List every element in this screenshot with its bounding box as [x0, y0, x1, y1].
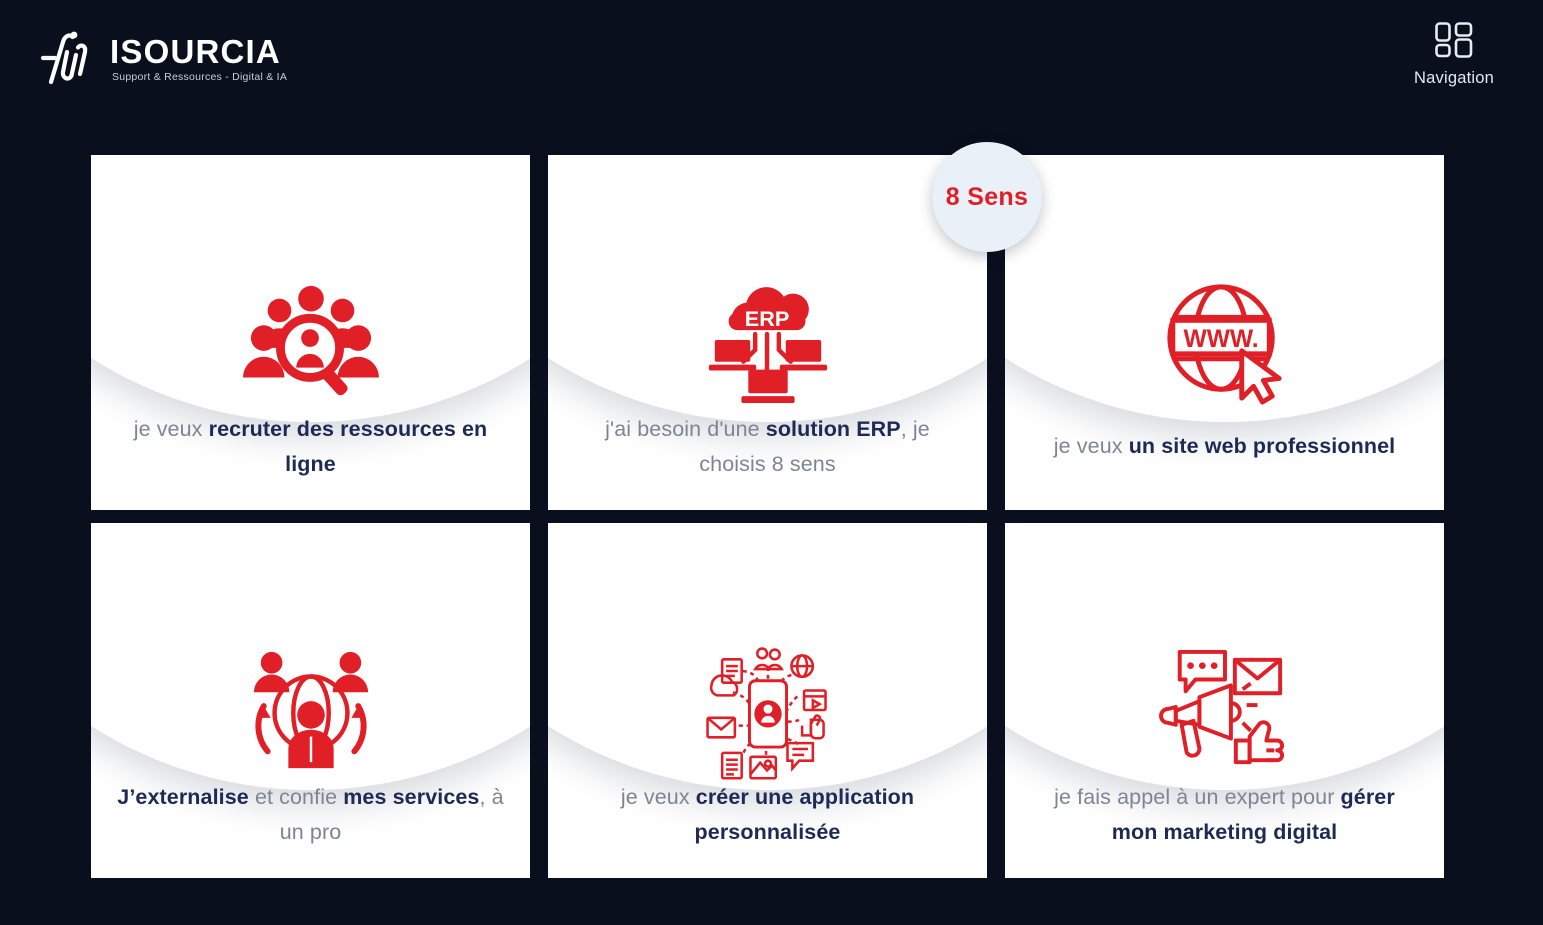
globe-www-cursor-icon: WWW.	[1005, 267, 1444, 417]
card-surface: ERP j'ai	[548, 155, 987, 510]
card-surface: je fais appel à un expert pour gérer mon…	[1005, 523, 1444, 878]
brand-name: ISOURCIA	[110, 35, 287, 70]
card-application-personnalisee[interactable]: je veux créer une application personnali…	[548, 523, 987, 878]
card-solution-erp[interactable]: ERP j'ai	[548, 155, 987, 510]
page-header: ISOURCIA Support & Ressources - Digital …	[0, 0, 1543, 125]
card-surface: je veux créer une application personnali…	[548, 523, 987, 878]
erp-cloud-network-icon: ERP	[548, 267, 987, 417]
mobile-app-ecosystem-icon	[548, 635, 987, 785]
service-card-grid: je veux recruter des ressources en ligne…	[91, 155, 1444, 878]
card-caption: je veux créer une application personnali…	[572, 780, 963, 850]
navigation-button[interactable]: Navigation	[1393, 20, 1515, 88]
grid-menu-icon	[1433, 20, 1475, 62]
card-recruter-ressources[interactable]: je veux recruter des ressources en ligne	[91, 155, 530, 510]
card-caption: J’externalise et confie mes services, à …	[115, 780, 506, 850]
people-search-icon	[91, 267, 530, 417]
card-externalisation-services[interactable]: J’externalise et confie mes services, à …	[91, 523, 530, 878]
card-caption: je fais appel à un expert pour gérer mon…	[1029, 780, 1420, 850]
brand-tagline: Support & Ressources - Digital & IA	[112, 71, 287, 83]
card-surface: J’externalise et confie mes services, à …	[91, 523, 530, 878]
navigation-label: Navigation	[1414, 69, 1494, 88]
card-caption: j'ai besoin d'une solution ERP, je chois…	[572, 412, 963, 482]
brand-logo[interactable]: ISOURCIA Support & Ressources - Digital …	[38, 28, 287, 90]
svg-text:ERP: ERP	[744, 306, 789, 331]
badge-label: 8 Sens	[946, 183, 1028, 212]
svg-text:WWW.: WWW.	[1183, 326, 1258, 353]
card-caption: je veux recruter des ressources en ligne	[115, 412, 506, 482]
card-surface: WWW. je veux un site web professionnel	[1005, 155, 1444, 510]
outsourcing-network-icon	[91, 635, 530, 785]
card-site-web-professionnel[interactable]: WWW. je veux un site web professionnel	[1005, 155, 1444, 510]
megaphone-marketing-icon	[1005, 635, 1444, 785]
isourcia-monogram-icon	[38, 28, 96, 90]
card-marketing-digital[interactable]: je fais appel à un expert pour gérer mon…	[1005, 523, 1444, 878]
card-caption: je veux un site web professionnel	[1029, 429, 1420, 464]
status-badge-8-sens[interactable]: 8 Sens	[932, 142, 1042, 252]
card-surface: je veux recruter des ressources en ligne	[91, 155, 530, 510]
